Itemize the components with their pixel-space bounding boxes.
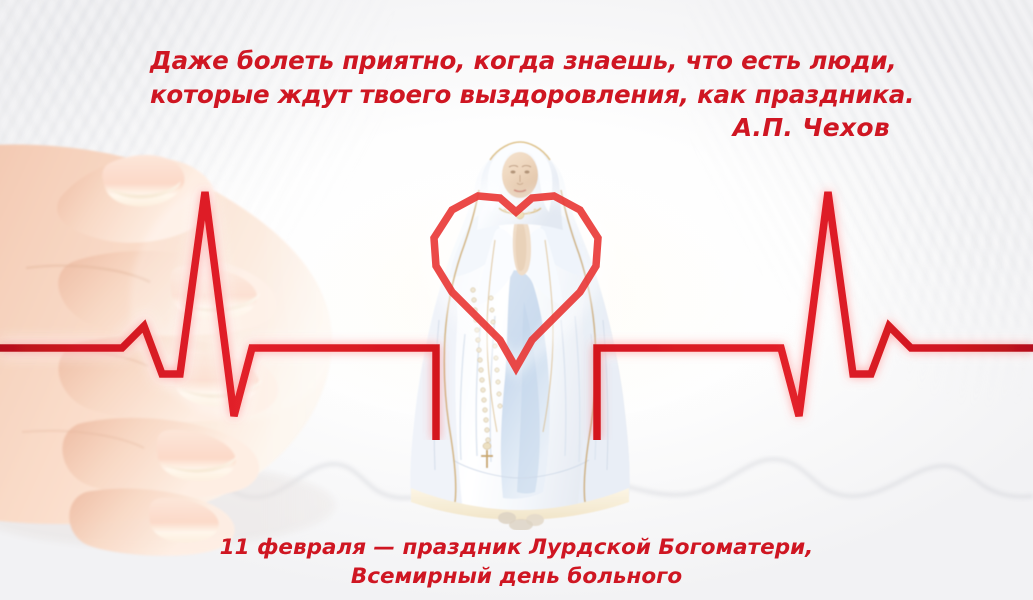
quote-author: А.П. Чехов bbox=[150, 113, 890, 142]
heart-outline-icon bbox=[432, 195, 600, 368]
ecg-trace-right bbox=[597, 192, 1033, 440]
ecg-heartbeat-overlay bbox=[0, 140, 1033, 440]
footer-line-2: Всемирный день больного bbox=[0, 562, 1033, 591]
quote-text: Даже болеть приятно, когда знаешь, что е… bbox=[150, 44, 890, 112]
ecg-trace-left bbox=[0, 192, 436, 440]
footer-text: 11 февраля — праздник Лурдской Богоматер… bbox=[0, 533, 1033, 591]
footer-line-1: 11 февраля — праздник Лурдской Богоматер… bbox=[0, 533, 1033, 562]
quote-line-2: которые ждут твоего выздоровления, как п… bbox=[150, 78, 890, 112]
quote-line-1: Даже болеть приятно, когда знаешь, что е… bbox=[150, 44, 890, 78]
greeting-card-poster: Даже болеть приятно, когда знаешь, что е… bbox=[0, 0, 1033, 600]
